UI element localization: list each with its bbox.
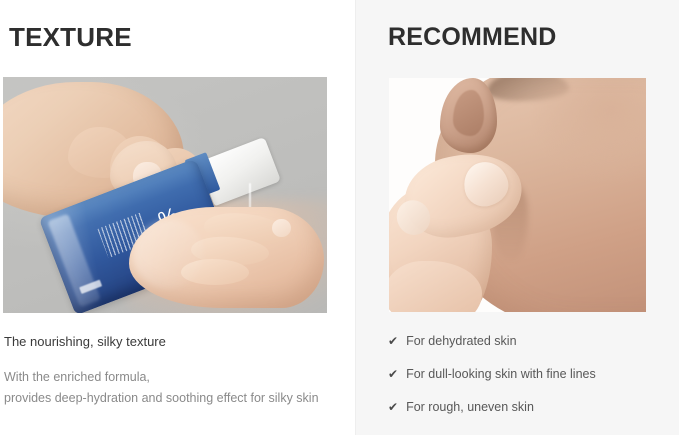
list-item: ✔ For dull-looking skin with fine lines [388,366,673,383]
check-icon: ✔ [388,333,398,350]
list-item: ✔ For rough, uneven skin [388,399,673,416]
recommend-panel: RECOMMEND ✔ For dehydrated skin [356,0,679,435]
product-detail-page: TEXTURE % [0,0,679,435]
check-icon: ✔ [388,399,398,416]
check-icon: ✔ [388,366,398,383]
texture-description: The nourishing, silky texture With the e… [4,333,344,409]
recommend-photo [389,78,646,312]
texture-body-line-1: With the enriched formula, [4,367,344,388]
texture-photo-illustration: % [3,77,327,313]
page-title-recommend: RECOMMEND [388,22,556,52]
panel-divider [355,0,356,435]
recommend-list: ✔ For dehydrated skin ✔ For dull-looking… [388,333,673,416]
wrist-sheen [133,219,204,290]
list-item-label: For dehydrated skin [406,333,516,350]
texture-lead-text: The nourishing, silky texture [4,333,344,351]
list-item-label: For dull-looking skin with fine lines [406,366,596,383]
texture-panel: TEXTURE % [0,0,356,435]
recommend-photo-illustration [389,78,646,312]
texture-body-line-2: provides deep-hydration and soothing eff… [4,388,344,409]
list-item-label: For rough, uneven skin [406,399,534,416]
page-title-texture: TEXTURE [9,22,132,52]
list-item: ✔ For dehydrated skin [388,333,673,350]
texture-photo: % [3,77,327,313]
